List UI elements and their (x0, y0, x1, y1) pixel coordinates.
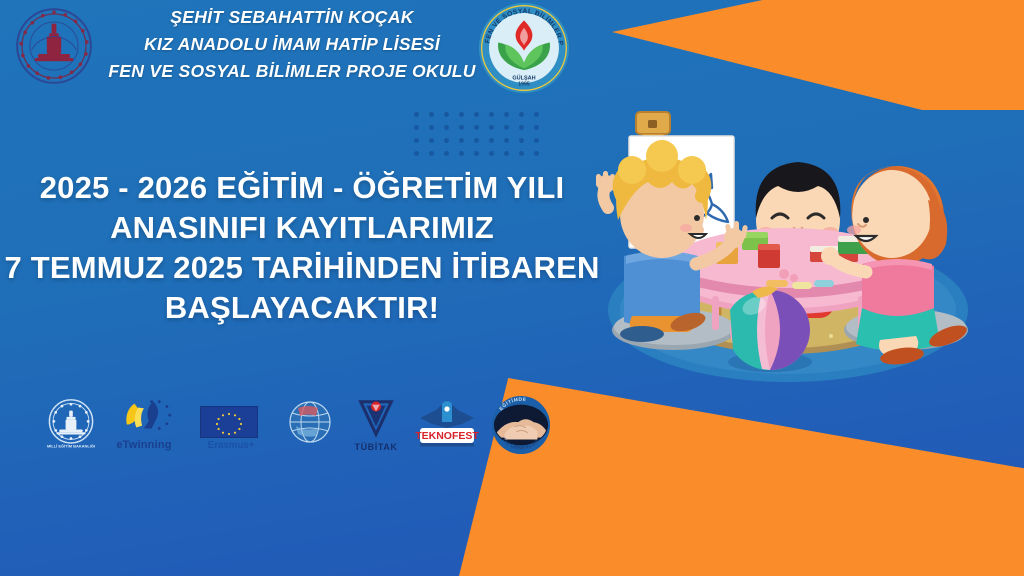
logo-item-erasmus: Erasmus+ (190, 396, 272, 454)
grid-dot (504, 112, 509, 117)
school-name-line-3: FEN VE SOSYAL BİLİMLER PROJE OKULU (92, 58, 492, 85)
grid-dot (489, 125, 494, 130)
grid-dot (459, 151, 464, 156)
children-playing-illustration (566, 78, 1010, 388)
grid-dot (444, 138, 449, 143)
eu-flag-icon (200, 406, 258, 438)
logo-item-etwinning: eTwinning (108, 396, 180, 454)
grid-dot (534, 125, 539, 130)
logo-item-tubitak: TÜBİTAK (348, 396, 404, 454)
tubitak-label: TÜBİTAK (348, 442, 404, 452)
grid-dot (534, 112, 539, 117)
etwinning-logo: eTwinning (108, 396, 180, 454)
grid-dot (519, 151, 524, 156)
dot-grid-decoration (414, 112, 549, 164)
headline-line-3: 7 TEMMUZ 2025 TARİHİNDEN İTİBAREN (0, 248, 604, 288)
grid-dot (474, 151, 479, 156)
grid-dot (519, 125, 524, 130)
grid-dot (489, 112, 494, 117)
grid-dot (414, 125, 419, 130)
headline-line-1: 2025 - 2026 EĞİTİM - ÖĞRETİM YILI (0, 168, 604, 208)
grid-dot (429, 151, 434, 156)
headline-line-2: ANASINIFI KAYITLARIMIZ (0, 208, 604, 248)
grid-dot (534, 151, 539, 156)
grid-dot (474, 138, 479, 143)
partner-logo-strip: MİLLÎ EĞİTİM BAKANLIĞI eTwinning (44, 394, 552, 456)
grid-dot (459, 125, 464, 130)
grid-dot (519, 138, 524, 143)
poster-canvas: ŞEHİT SEBAHATTİN KOÇAK KIZ ANADOLU İMAM … (0, 0, 1024, 576)
headline-block: 2025 - 2026 EĞİTİM - ÖĞRETİM YILI ANASIN… (0, 168, 604, 328)
grid-dot (414, 138, 419, 143)
logo-item-iyi-ornekler: EĞİTİMDE İYİ ÖRNEKLER (490, 396, 552, 454)
grid-dot (504, 151, 509, 156)
grid-dot (414, 112, 419, 117)
headline-line-4: BAŞLAYACAKTIR! (0, 288, 604, 328)
teknofest-logo: TEKNOFEST (414, 396, 480, 454)
school-emblem-center-text: GÜLŞAH (512, 74, 535, 81)
grid-dot (474, 125, 479, 130)
erasmus-logo: Erasmus+ (190, 396, 272, 454)
school-name-block: ŞEHİT SEBAHATTİN KOÇAK KIZ ANADOLU İMAM … (92, 4, 492, 85)
etwinning-label: eTwinning (108, 439, 180, 451)
meb-crest-logo (14, 6, 94, 86)
grid-dot (459, 138, 464, 143)
school-emblem-logo: FEN VE SOSYAL BİLİMLER PROJE OKULU GÜLŞA… (478, 2, 570, 94)
iyi-ornekler-logo: EĞİTİMDE İYİ ÖRNEKLER (490, 395, 552, 455)
grid-dot (444, 112, 449, 117)
grid-dot (429, 138, 434, 143)
logo-item-meb: MİLLÎ EĞİTİM BAKANLIĞI (44, 396, 98, 454)
grid-dot (519, 112, 524, 117)
logo-item-globe (282, 396, 338, 454)
grid-dot (504, 138, 509, 143)
grid-dot (429, 112, 434, 117)
grid-dot (414, 151, 419, 156)
grid-dot (444, 125, 449, 130)
teknofest-label: TEKNOFEST (415, 430, 479, 442)
grid-dot (489, 151, 494, 156)
globe-logo (282, 396, 338, 454)
grid-dot (474, 112, 479, 117)
meb-logo-label: MİLLÎ EĞİTİM BAKANLIĞI (47, 444, 95, 449)
erasmus-label: Erasmus+ (190, 440, 272, 451)
grid-dot (459, 112, 464, 117)
school-name-line-1: ŞEHİT SEBAHATTİN KOÇAK (92, 4, 492, 31)
header: ŞEHİT SEBAHATTİN KOÇAK KIZ ANADOLU İMAM … (0, 0, 600, 100)
grid-dot (534, 138, 539, 143)
grid-dot (429, 125, 434, 130)
logo-item-teknofest: TEKNOFEST (414, 396, 480, 454)
meb-logo: MİLLÎ EĞİTİM BAKANLIĞI (44, 396, 98, 454)
grid-dot (489, 138, 494, 143)
grid-dot (444, 151, 449, 156)
school-emblem-year: 1995 (518, 82, 530, 88)
tubitak-logo: TÜBİTAK (348, 396, 404, 454)
school-name-line-2: KIZ ANADOLU İMAM HATİP LİSESİ (92, 31, 492, 58)
grid-dot (504, 125, 509, 130)
